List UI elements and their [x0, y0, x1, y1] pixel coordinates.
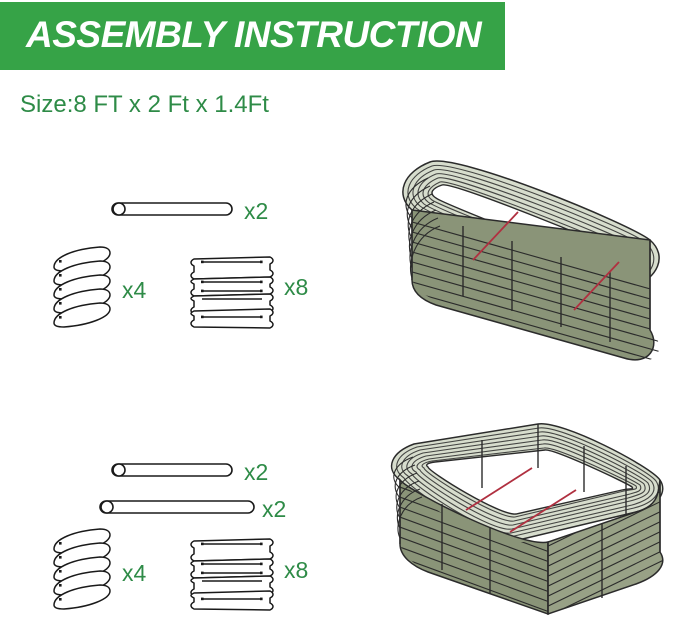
rectangular-raised-bed-illustration	[370, 418, 676, 626]
curved-panel-stack-icon	[48, 245, 120, 335]
rod-short-icon	[108, 460, 236, 480]
assembly-instruction-page: ASSEMBLY INSTRUCTION Size:8 FT x 2 Ft x …	[0, 0, 679, 629]
rod-short-quantity: x2	[244, 198, 268, 224]
straight-panel-quantity: x8	[284, 274, 308, 300]
curved-panel-quantity: x4	[122, 277, 146, 303]
straight-panel-stack-icon	[190, 253, 280, 331]
rod-long-icon	[96, 497, 258, 517]
rod-short-quantity: x2	[244, 459, 268, 485]
rod-short-icon	[108, 199, 236, 219]
straight-panel-stack-icon	[190, 535, 280, 613]
oval-raised-bed-illustration	[378, 140, 678, 375]
size-label: Size:8 FT x 2 Ft x 1.4Ft	[20, 90, 269, 120]
straight-panel-quantity: x8	[284, 557, 308, 583]
curved-panel-stack-icon	[48, 527, 120, 617]
page-title: ASSEMBLY INSTRUCTION	[26, 15, 496, 55]
rod-long-quantity: x2	[262, 496, 286, 522]
curved-panel-quantity: x4	[122, 560, 146, 586]
